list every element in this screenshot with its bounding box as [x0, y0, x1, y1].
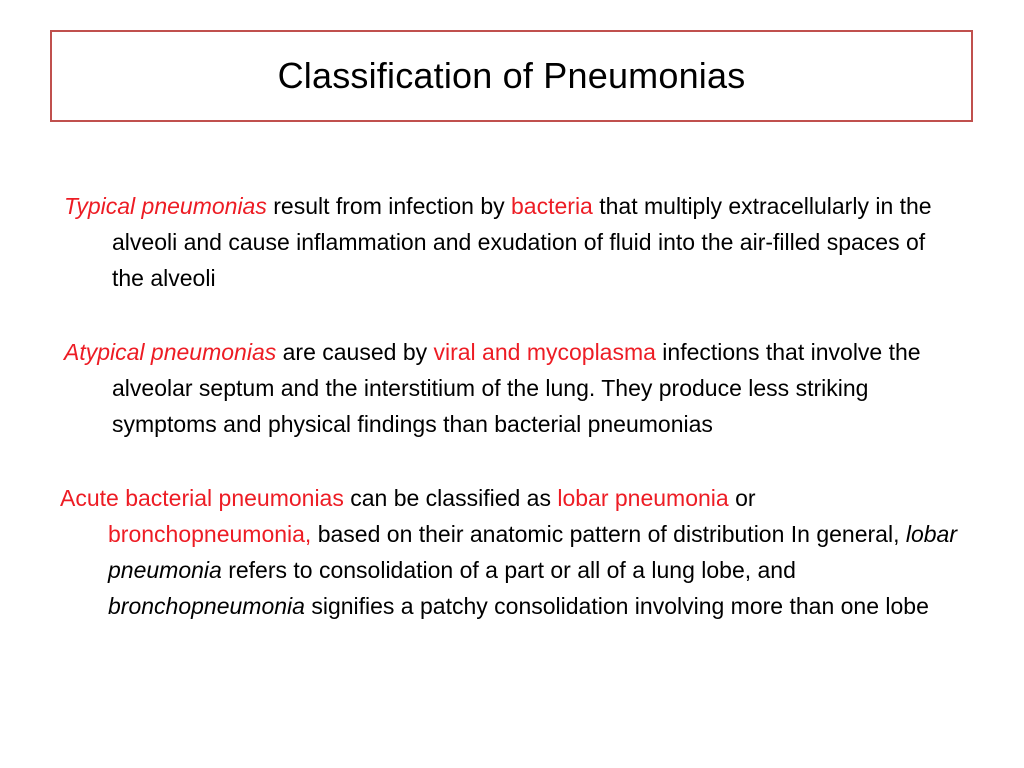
term-typical-pneumonias: Typical pneumonias [64, 193, 267, 219]
term-acute-bacterial-pneumonias: Acute bacterial pneumonias [60, 485, 344, 511]
term-lobar-pneumonia-red: lobar pneumonia [557, 485, 728, 511]
term-bacteria: bacteria [511, 193, 593, 219]
paragraph-typical-pneumonias: Typical pneumonias result from infection… [64, 188, 960, 296]
text-run: signifies a patchy consolidation involvi… [305, 593, 929, 619]
text-run: refers to consolidation of a part or all… [222, 557, 796, 583]
slide-canvas: Classification of Pneumonias Typical pne… [0, 0, 1024, 768]
term-bronchopneumonia-red: bronchopneumonia, [108, 521, 311, 547]
title-box: Classification of Pneumonias [50, 30, 973, 122]
text-run: can be classified as [344, 485, 558, 511]
body-content: Typical pneumonias result from infection… [60, 188, 960, 624]
text-run: based on their anatomic pattern of distr… [311, 521, 906, 547]
paragraph-atypical-pneumonias: Atypical pneumonias are caused by viral … [64, 334, 960, 442]
term-bronchopneumonia-italic: bronchopneumonia [108, 593, 305, 619]
term-viral-and-mycoplasma: viral and mycoplasma [434, 339, 656, 365]
text-run: or [729, 485, 756, 511]
page-title: Classification of Pneumonias [278, 56, 746, 96]
text-run: are caused by [276, 339, 433, 365]
term-atypical-pneumonias: Atypical pneumonias [64, 339, 276, 365]
paragraph-acute-bacterial-pneumonias: Acute bacterial pneumonias can be classi… [60, 480, 960, 624]
text-run: result from infection by [267, 193, 511, 219]
